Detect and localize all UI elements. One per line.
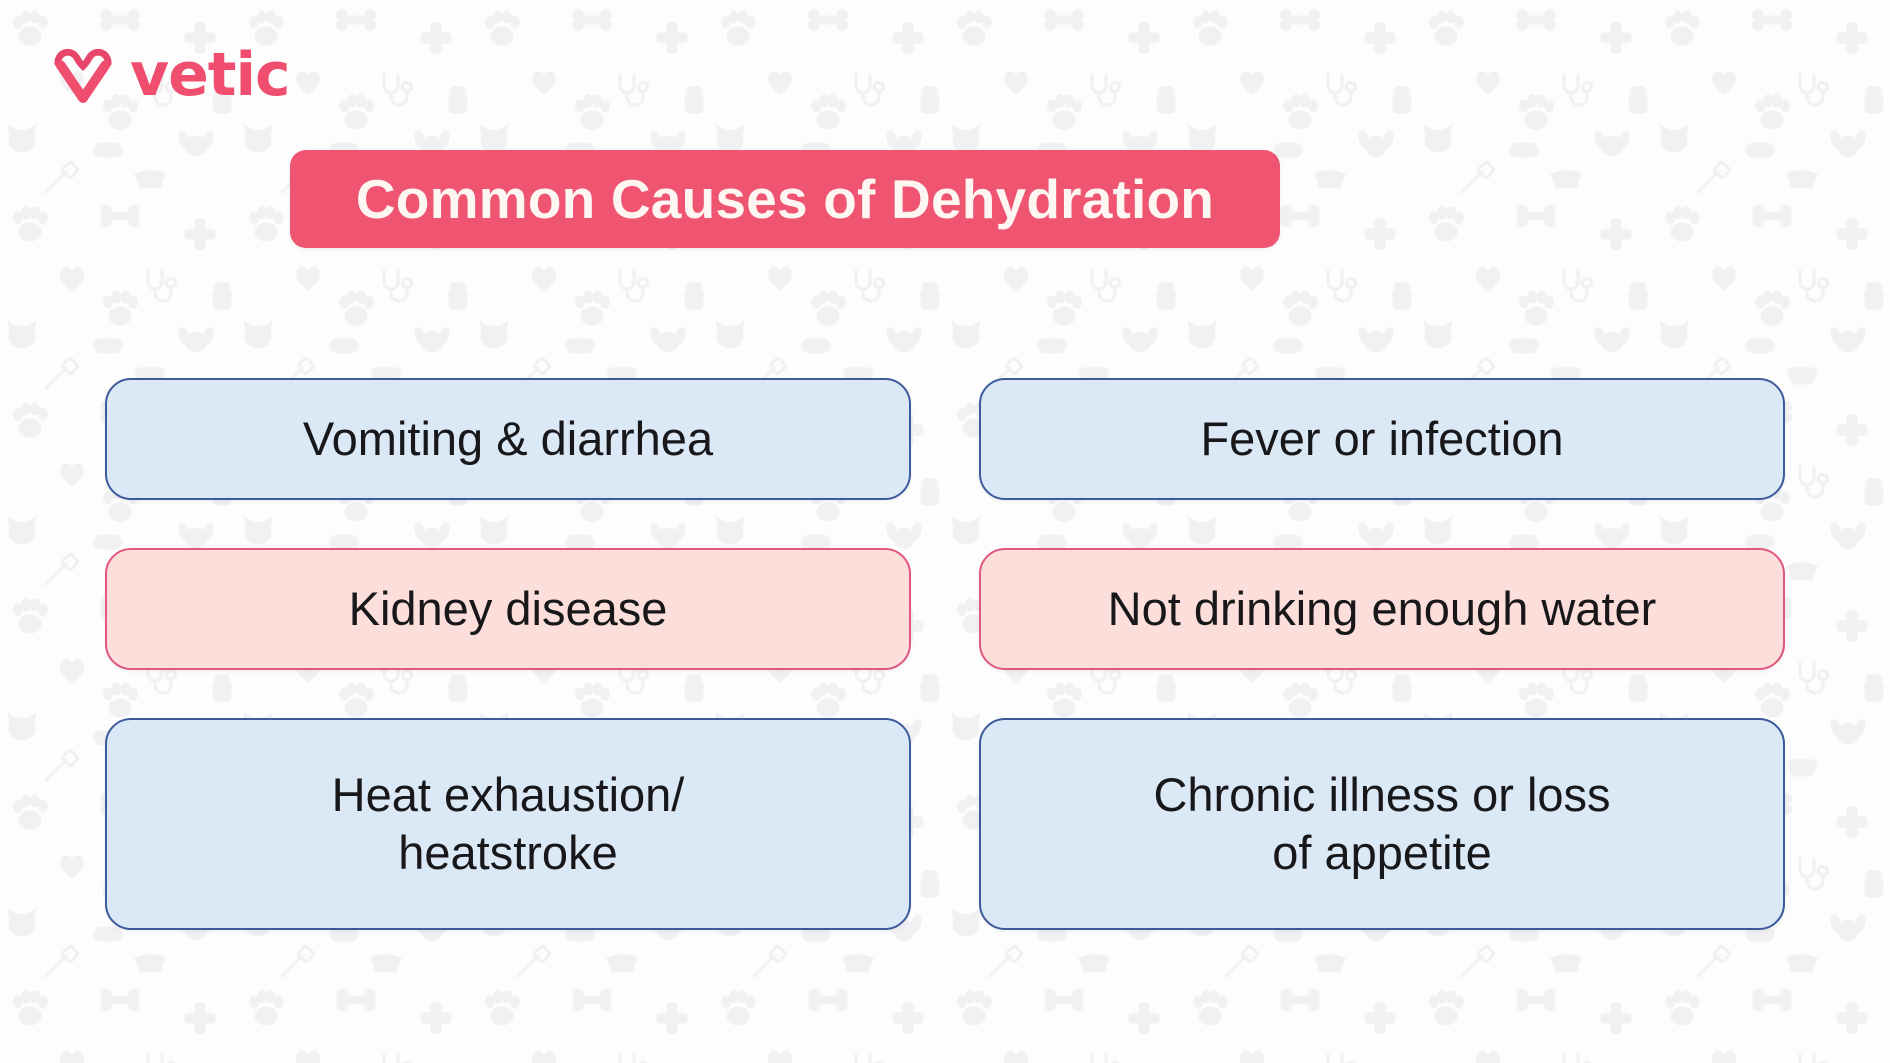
cause-card-label: Kidney disease — [349, 580, 668, 638]
vetic-wordmark: vetic — [130, 45, 290, 105]
cause-card-not-drinking-enough-water[interactable]: Not drinking enough water — [979, 548, 1785, 670]
cause-card-label: Not drinking enough water — [1108, 580, 1657, 638]
vetic-heart-v-logo-icon — [52, 42, 114, 104]
cause-card-label: Chronic illness or loss of appetite — [1153, 766, 1610, 883]
page-title: Common Causes of Dehydration — [356, 172, 1214, 227]
cause-card-label: Vomiting & diarrhea — [303, 410, 713, 468]
card-row-2: Kidney disease Not drinking enough water — [105, 548, 1785, 670]
cause-card-kidney-disease[interactable]: Kidney disease — [105, 548, 911, 670]
causes-card-grid: Vomiting & diarrhea Fever or infection K… — [105, 378, 1785, 930]
vetic-logo: vetic — [52, 42, 290, 104]
cause-card-heat-exhaustion-heatstroke[interactable]: Heat exhaustion/ heatstroke — [105, 718, 911, 930]
cause-card-label: Fever or infection — [1200, 410, 1563, 468]
cause-card-fever-infection[interactable]: Fever or infection — [979, 378, 1785, 500]
cause-card-label: Heat exhaustion/ heatstroke — [332, 766, 685, 883]
card-row-1: Vomiting & diarrhea Fever or infection — [105, 378, 1785, 500]
cause-card-chronic-illness-loss-of-appetite[interactable]: Chronic illness or loss of appetite — [979, 718, 1785, 930]
card-row-3: Heat exhaustion/ heatstroke Chronic illn… — [105, 718, 1785, 930]
cause-card-vomiting-diarrhea[interactable]: Vomiting & diarrhea — [105, 378, 911, 500]
title-banner: Common Causes of Dehydration — [290, 150, 1280, 248]
